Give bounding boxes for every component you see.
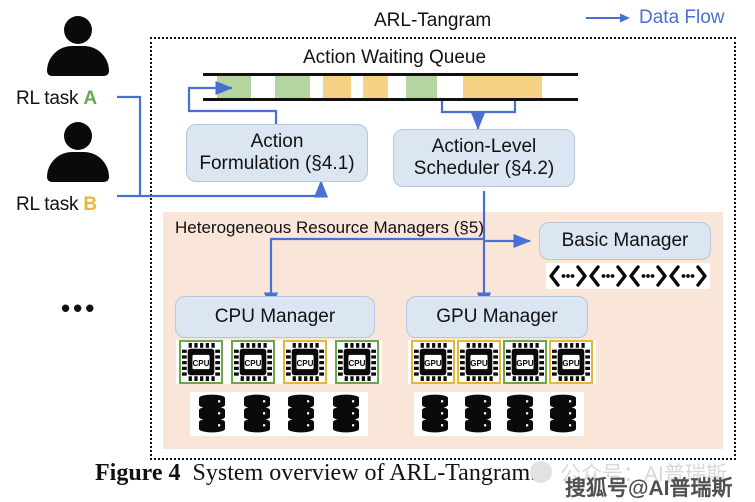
bidirectional-link-icon (669, 265, 707, 287)
module-basic-manager[interactable]: Basic Manager (539, 222, 711, 260)
cpu-chip-icon: CPU (335, 340, 379, 384)
svg-text:GPU: GPU (424, 359, 442, 368)
bidirectional-link-icon (549, 265, 587, 287)
svg-text:CPU: CPU (244, 359, 261, 368)
storage-icon (463, 394, 493, 434)
bidirectional-link-icon (589, 265, 627, 287)
figure-caption-text: System overview of ARL-Tangram. (193, 460, 537, 486)
gpu-chip-icon: GPU (411, 340, 455, 384)
svg-text:CPU: CPU (296, 359, 313, 368)
more-actors-ellipsis: ••• (61, 295, 97, 321)
module-gpu-manager[interactable]: GPU Manager (406, 296, 588, 338)
storage-icon (197, 394, 227, 434)
cpu-manager-label: CPU Manager (215, 306, 335, 328)
actor-tag-b: B (83, 194, 97, 215)
user-icon-task-b (47, 122, 109, 184)
cpu-storage-strip (190, 392, 368, 436)
interconnect-row (546, 263, 710, 289)
storage-icon (420, 394, 450, 434)
queue-segment (351, 76, 363, 98)
action-scheduler-line1: Action-Level (414, 136, 554, 158)
cpu-hardware-strip: CPUCPUCPUCPU (176, 340, 382, 384)
watermark-logo (530, 461, 552, 483)
action-formulation-line1: Action (199, 131, 354, 153)
gpu-chip-icon: GPU (503, 340, 547, 384)
gpu-chip-icon: GPU (457, 340, 501, 384)
watermark-dark: 搜狐号@AI普瑞斯 (565, 472, 732, 502)
legend-data-flow: Data Flow (586, 7, 725, 29)
action-waiting-queue (203, 73, 578, 101)
queue-segment (203, 76, 217, 98)
queue-segment (463, 76, 541, 98)
actor-label-a-prefix: RL task (16, 88, 83, 109)
queue-segment (437, 76, 463, 98)
queue-segment (275, 76, 309, 98)
svg-text:GPU: GPU (516, 359, 534, 368)
actor-tag-a: A (83, 88, 97, 109)
action-scheduler-line2: Scheduler (§4.2) (414, 158, 554, 180)
storage-icon (505, 394, 535, 434)
gpu-chip-icon: GPU (549, 340, 593, 384)
figure-caption: Figure 4 System overview of ARL-Tangram. (95, 460, 536, 487)
figure-number: Figure 4 (95, 460, 181, 486)
diagram-canvas: Data Flow ARL-Tangram RL task A RL task … (0, 0, 755, 500)
cpu-chip-icon: CPU (231, 340, 275, 384)
svg-text:CPU: CPU (348, 359, 365, 368)
svg-text:GPU: GPU (562, 359, 580, 368)
svg-text:CPU: CPU (192, 359, 209, 368)
system-title: ARL-Tangram (374, 10, 491, 32)
right-arrow-icon (586, 11, 632, 25)
actor-label-a: RL task A (16, 88, 97, 110)
queue-segment (363, 76, 388, 98)
queue-segment (388, 76, 406, 98)
module-action-formulation[interactable]: Action Formulation (§4.1) (186, 124, 368, 182)
storage-icon (242, 394, 272, 434)
action-formulation-line2: Formulation (§4.1) (199, 153, 354, 175)
basic-manager-label: Basic Manager (562, 230, 689, 252)
storage-icon (331, 394, 361, 434)
queue-segment (323, 76, 351, 98)
module-action-level-scheduler[interactable]: Action-Level Scheduler (§4.2) (393, 129, 575, 187)
queue-segment (542, 76, 578, 98)
queue-segment (251, 76, 275, 98)
gpu-manager-label: GPU Manager (436, 306, 557, 328)
cpu-chip-icon: CPU (179, 340, 223, 384)
actor-label-b: RL task B (16, 194, 97, 216)
gpu-storage-strip (414, 392, 584, 436)
queue-segment (310, 76, 323, 98)
storage-icon (548, 394, 578, 434)
queue-title: Action Waiting Queue (303, 47, 486, 69)
actor-label-b-prefix: RL task (16, 194, 83, 215)
user-icon-task-a (47, 16, 109, 78)
resource-panel-title: Heterogeneous Resource Managers (§5) (175, 218, 484, 238)
cpu-chip-icon: CPU (283, 340, 327, 384)
bidirectional-link-icon (629, 265, 667, 287)
storage-icon (286, 394, 316, 434)
gpu-hardware-strip: GPUGPUGPUGPU (408, 340, 596, 384)
module-cpu-manager[interactable]: CPU Manager (175, 296, 375, 338)
queue-segment (217, 76, 251, 98)
legend-label: Data Flow (639, 7, 725, 29)
queue-segment (406, 76, 437, 98)
svg-text:GPU: GPU (470, 359, 488, 368)
